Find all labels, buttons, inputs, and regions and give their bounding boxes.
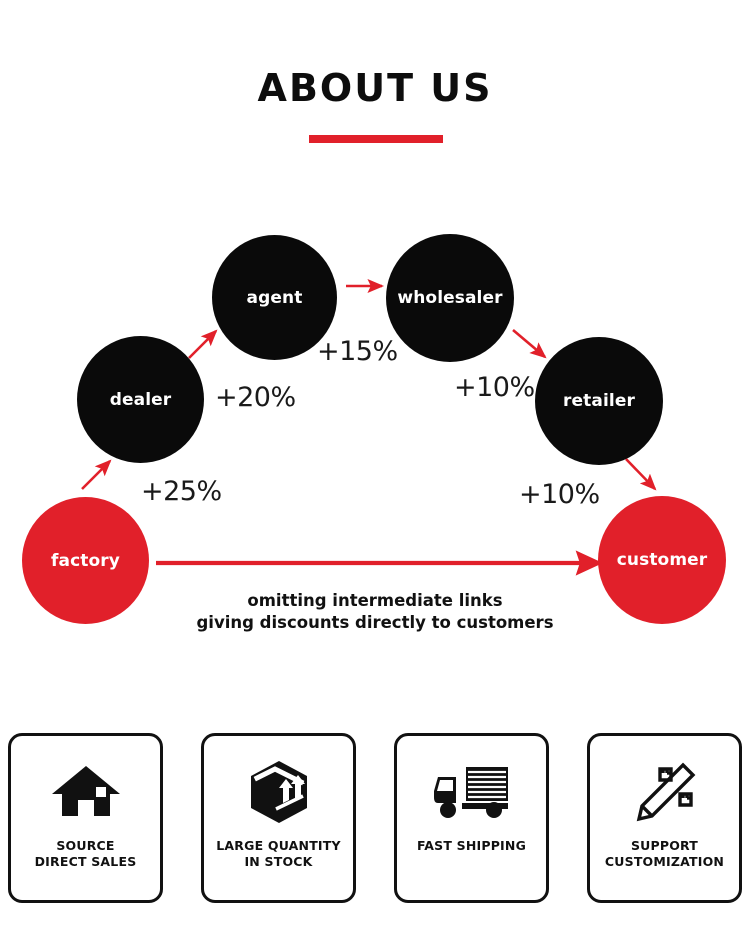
arrow-factory-dealer	[82, 461, 110, 489]
supply-chain-diagram: factory dealer agent wholesaler retailer…	[0, 0, 750, 680]
feature-label-line-1: SUPPORT	[605, 838, 724, 854]
feature-label-line-1: LARGE QUANTITY	[216, 838, 341, 854]
feature-label: LARGE QUANTITY IN STOCK	[212, 838, 345, 870]
feature-label-line-2: DIRECT SALES	[35, 854, 137, 870]
feature-card-fast-shipping[interactable]: FAST SHIPPING	[394, 733, 549, 903]
pencil-ruler-icon	[630, 746, 700, 838]
node-label: agent	[247, 288, 303, 308]
feature-card-large-quantity-in-stock[interactable]: LARGE QUANTITY IN STOCK	[201, 733, 356, 903]
feature-label-line-2: CUSTOMIZATION	[605, 854, 724, 870]
node-customer[interactable]: customer	[598, 496, 726, 624]
about-us-page: ABOUT US	[0, 0, 750, 944]
feature-label-line-1: SOURCE	[35, 838, 137, 854]
truck-icon	[432, 746, 512, 838]
box-icon	[245, 746, 313, 838]
arrow-retailer-customer	[626, 459, 655, 489]
house-icon	[50, 746, 122, 838]
node-label: dealer	[110, 390, 172, 410]
node-label: customer	[617, 550, 708, 570]
feature-card-support-customization[interactable]: SUPPORT CUSTOMIZATION	[587, 733, 742, 903]
feature-card-source-direct-sales[interactable]: SOURCE DIRECT SALES	[8, 733, 163, 903]
node-retailer[interactable]: retailer	[535, 337, 663, 465]
node-label: retailer	[563, 391, 635, 411]
node-agent[interactable]: agent	[212, 235, 337, 360]
node-label: factory	[51, 551, 120, 571]
node-factory[interactable]: factory	[22, 497, 149, 624]
feature-label: SOURCE DIRECT SALES	[31, 838, 141, 870]
arrow-dealer-agent	[189, 331, 216, 358]
feature-highlights: SOURCE DIRECT SALES LARGE QUANTITY IN ST…	[0, 733, 750, 905]
arrow-wholesaler-retailer	[513, 330, 545, 357]
markup-label-dealer-agent: +20%	[215, 382, 296, 413]
feature-label-line-1: FAST SHIPPING	[417, 838, 526, 854]
markup-label-agent-wholesaler: +15%	[317, 336, 398, 367]
node-wholesaler[interactable]: wholesaler	[386, 234, 514, 362]
feature-label: SUPPORT CUSTOMIZATION	[601, 838, 728, 870]
markup-label-retailer-customer: +10%	[519, 479, 600, 510]
markup-label-factory-dealer: +25%	[141, 476, 222, 507]
markup-label-wholesaler-retailer: +10%	[454, 372, 535, 403]
feature-label: FAST SHIPPING	[413, 838, 530, 854]
node-label: wholesaler	[397, 288, 502, 308]
feature-label-line-2: IN STOCK	[216, 854, 341, 870]
node-dealer[interactable]: dealer	[77, 336, 204, 463]
